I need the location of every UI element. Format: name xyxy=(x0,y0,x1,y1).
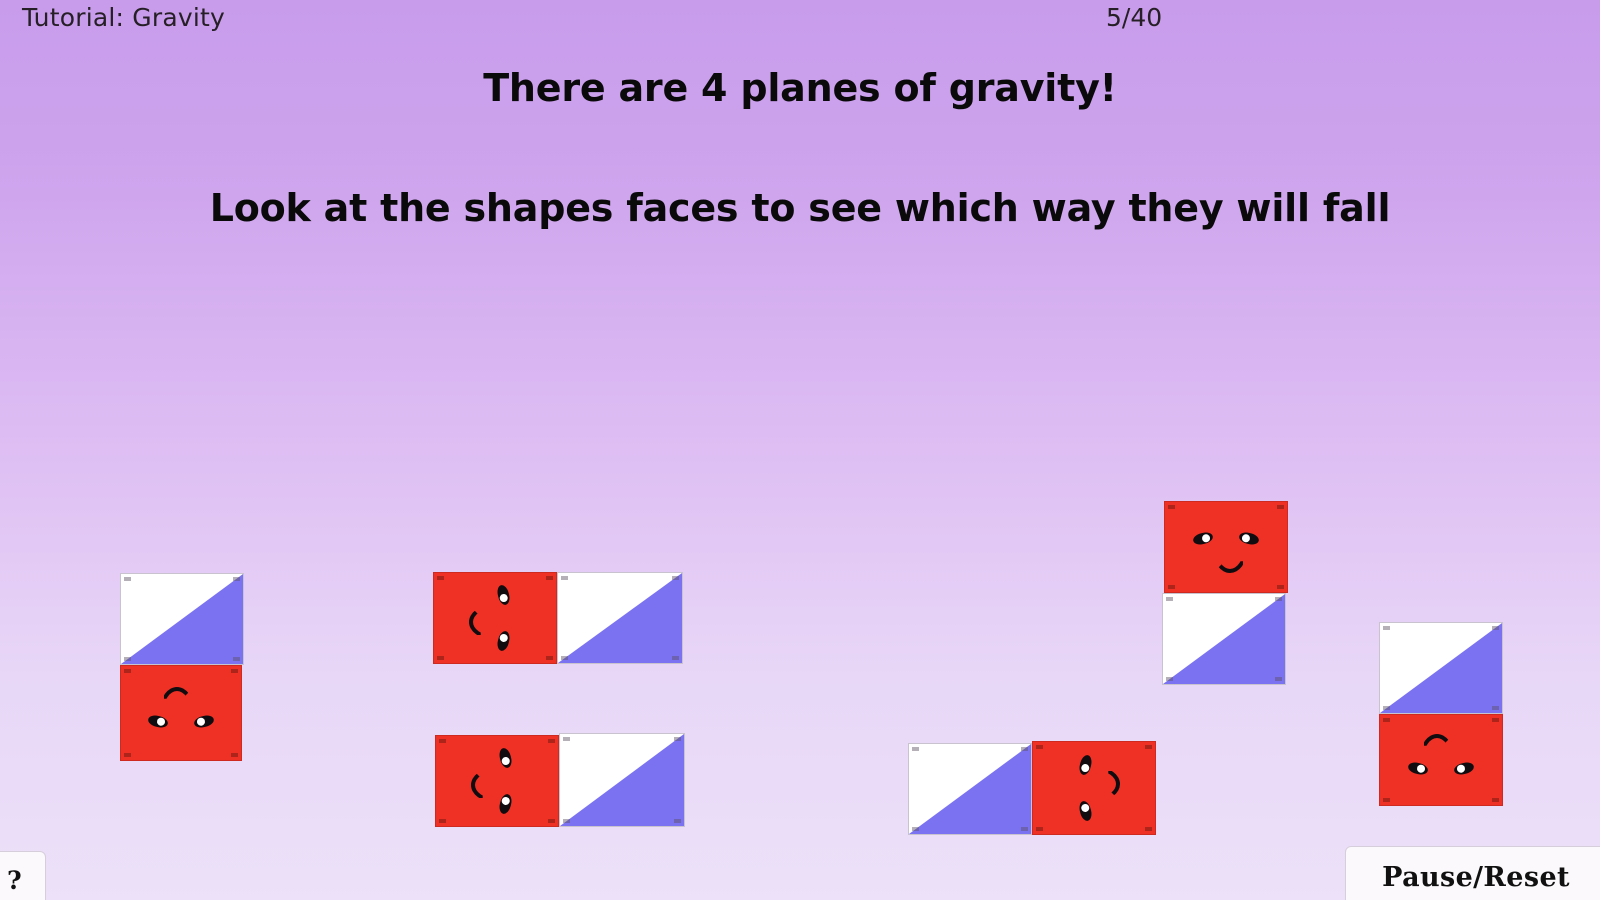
corner-nub-tr xyxy=(1492,626,1499,630)
slope-block[interactable] xyxy=(120,573,244,665)
blue-triangle xyxy=(560,734,684,826)
corner-nub-tr xyxy=(546,576,553,580)
eye-left-icon xyxy=(1078,800,1094,822)
corner-nub-tl xyxy=(912,747,919,751)
help-button[interactable]: ? xyxy=(0,851,46,900)
red-face-block[interactable] xyxy=(433,572,557,664)
corner-nub-bl xyxy=(563,819,570,823)
corner-nub-tl xyxy=(1036,745,1043,749)
red-face-block[interactable] xyxy=(1032,741,1156,835)
corner-nub-tl xyxy=(561,576,568,580)
game-stage: Tutorial: Gravity 5/40 There are 4 plane… xyxy=(0,0,1600,900)
corner-nub-tr xyxy=(1145,745,1152,749)
mouth-frown-icon xyxy=(1420,734,1454,757)
corner-nub-bl xyxy=(561,656,568,660)
pause-reset-button[interactable]: Pause/Reset xyxy=(1345,846,1600,900)
eye-right-icon xyxy=(496,630,512,652)
blue-triangle xyxy=(558,573,682,663)
corner-nub-br xyxy=(231,753,238,757)
corner-nub-bl xyxy=(439,819,446,823)
eye-right-icon xyxy=(1407,761,1429,777)
corner-nub-br xyxy=(1277,585,1284,589)
slope-block[interactable] xyxy=(559,733,685,827)
corner-nub-tr xyxy=(672,576,679,580)
eye-left-icon xyxy=(1192,531,1214,547)
corner-nub-tr xyxy=(674,737,681,741)
corner-nub-bl xyxy=(437,656,444,660)
corner-nub-tr xyxy=(233,577,240,581)
corner-nub-bl xyxy=(1383,706,1390,710)
corner-nub-tr xyxy=(1275,597,1282,601)
block-face-right xyxy=(469,744,525,818)
mouth-frown-icon xyxy=(1213,550,1247,573)
corner-nub-tr xyxy=(1021,747,1028,751)
eye-left-icon xyxy=(1453,761,1475,777)
corner-nub-tl xyxy=(439,739,446,743)
corner-nub-bl xyxy=(1168,585,1175,589)
corner-nub-br xyxy=(1275,677,1282,681)
slope-block[interactable] xyxy=(557,572,683,664)
block-face-down xyxy=(1404,732,1478,788)
corner-nub-tl xyxy=(124,669,131,673)
block-face-down xyxy=(144,685,218,741)
corner-nub-br xyxy=(1492,798,1499,802)
block-face-right xyxy=(467,581,523,655)
corner-nub-tl xyxy=(1166,597,1173,601)
headline-primary: There are 4 planes of gravity! xyxy=(0,66,1600,110)
corner-nub-tl xyxy=(1383,626,1390,630)
corner-nub-tl xyxy=(1168,505,1175,509)
corner-nub-br xyxy=(548,819,555,823)
blue-triangle xyxy=(1163,594,1285,684)
corner-nub-br xyxy=(1492,706,1499,710)
slope-block[interactable] xyxy=(1379,622,1503,714)
corner-nub-bl xyxy=(124,753,131,757)
corner-nub-tr xyxy=(1277,505,1284,509)
mouth-frown-icon xyxy=(160,687,194,710)
red-face-block[interactable] xyxy=(120,665,242,761)
corner-nub-bl xyxy=(912,827,919,831)
corner-nub-br xyxy=(233,657,240,661)
corner-nub-br xyxy=(1021,827,1028,831)
mouth-frown-icon xyxy=(1097,767,1120,801)
corner-nub-bl xyxy=(1166,677,1173,681)
mouth-frown-icon xyxy=(471,768,494,802)
eye-right-icon xyxy=(1078,754,1094,776)
eye-right-icon xyxy=(147,714,169,730)
corner-nub-bl xyxy=(1036,827,1043,831)
slope-block[interactable] xyxy=(908,743,1032,835)
corner-nub-bl xyxy=(1383,798,1390,802)
eye-left-icon xyxy=(498,747,514,769)
corner-nub-tl xyxy=(563,737,570,741)
blue-triangle xyxy=(909,744,1031,834)
eye-left-icon xyxy=(496,584,512,606)
blue-triangle xyxy=(121,574,243,664)
block-face-up xyxy=(1189,519,1263,575)
corner-nub-br xyxy=(674,819,681,823)
corner-nub-tr xyxy=(1492,718,1499,722)
eye-right-icon xyxy=(1238,531,1260,547)
corner-nub-tr xyxy=(548,739,555,743)
red-face-block[interactable] xyxy=(435,735,559,827)
corner-nub-bl xyxy=(124,657,131,661)
slope-block[interactable] xyxy=(1162,593,1286,685)
level-counter: 5/40 xyxy=(1106,3,1162,32)
eye-right-icon xyxy=(498,793,514,815)
blue-triangle xyxy=(1380,623,1502,713)
block-face-left xyxy=(1066,751,1122,825)
corner-nub-br xyxy=(672,656,679,660)
corner-nub-br xyxy=(546,656,553,660)
red-face-block[interactable] xyxy=(1164,501,1288,593)
corner-nub-br xyxy=(1145,827,1152,831)
headline-secondary: Look at the shapes faces to see which wa… xyxy=(0,186,1600,230)
corner-nub-tr xyxy=(231,669,238,673)
eye-left-icon xyxy=(193,714,215,730)
corner-nub-tl xyxy=(124,577,131,581)
red-face-block[interactable] xyxy=(1379,714,1503,806)
corner-nub-tl xyxy=(437,576,444,580)
corner-nub-tl xyxy=(1383,718,1390,722)
mouth-frown-icon xyxy=(469,605,492,639)
tutorial-title: Tutorial: Gravity xyxy=(22,3,225,32)
